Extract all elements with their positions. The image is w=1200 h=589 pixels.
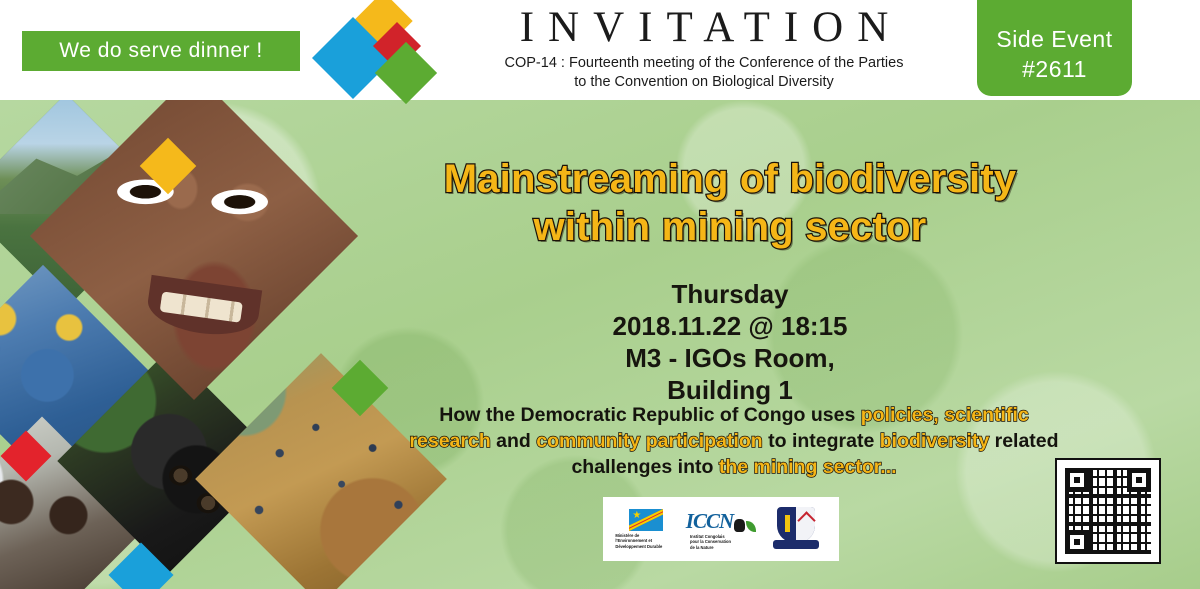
event-title: Mainstreaming of biodiversity within min…: [390, 155, 1070, 251]
event-description: How the Democratic Republic of Congo use…: [404, 402, 1064, 480]
drc-flag-icon: ★: [629, 509, 663, 531]
qr-code-pattern: [1065, 468, 1151, 554]
torch-icon: [785, 515, 790, 532]
event-room: M3 - IGOs Room,: [400, 342, 1060, 374]
dinner-banner: We do serve dinner !: [22, 31, 300, 71]
side-event-number: #2611: [1022, 54, 1087, 84]
ministry-environment-drc-logo: ★ Ministère de l'Environnement et Dévelo…: [609, 509, 683, 549]
ribbon-banner: [773, 540, 819, 549]
partner-logos: ★ Ministère de l'Environnement et Dévelo…: [603, 497, 839, 561]
iccn-logo: ICCN Institut Congolais pour la Conserva…: [684, 508, 758, 550]
desc-highlight-policies: policies,: [861, 404, 939, 426]
event-datetime: 2018.11.22 @ 18:15: [400, 310, 1060, 342]
page-title: INVITATION: [448, 3, 960, 53]
event-title-line-1: Mainstreaming of biodiversity: [390, 155, 1070, 203]
cop-subtitle-line-2: to the Convention on Biological Diversit…: [448, 73, 960, 92]
event-title-line-2: within mining sector: [390, 203, 1070, 251]
qr-finder-top-right: [1127, 468, 1151, 492]
cop-subtitle-line-1: COP-14 : Fourteenth meeting of the Confe…: [448, 54, 960, 73]
event-day: Thursday: [400, 278, 1060, 310]
shield-crest-icon: [773, 507, 819, 551]
iccn-logo-caption: Institut Congolais pour la Conservation …: [684, 534, 758, 550]
event-content: Mainstreaming of biodiversity within min…: [390, 100, 1200, 589]
okapi-icon: [734, 519, 745, 532]
event-details: Thursday 2018.11.22 @ 18:15 M3 - IGOs Ro…: [400, 278, 1060, 406]
mining-institute-crest-logo: [759, 507, 833, 551]
invitation-title-block: INVITATION COP-14 : Fourteenth meeting o…: [448, 3, 960, 92]
photo-collage: [0, 100, 400, 589]
invitation-poster: Mainstreaming of biodiversity within min…: [0, 0, 1200, 589]
side-event-badge: Side Event #2611: [977, 0, 1132, 96]
cop14-diamond-logo: [318, 2, 436, 98]
side-event-label: Side Event: [996, 24, 1112, 54]
desc-seg-3: and: [491, 430, 537, 452]
dinner-banner-label: We do serve dinner !: [59, 39, 262, 63]
desc-highlight-community-participation: community participation: [536, 430, 762, 452]
cop-subtitle: COP-14 : Fourteenth meeting of the Confe…: [448, 54, 960, 92]
ministry-logo-caption: Ministère de l'Environnement et Développ…: [609, 533, 683, 549]
qr-finder-bottom-left: [1065, 530, 1089, 554]
desc-seg-1: How the Democratic Republic of Congo use…: [439, 404, 860, 426]
iccn-wordmark: ICCN: [686, 511, 733, 532]
qr-finder-top-left: [1065, 468, 1089, 492]
okapi-leaf-icon: ICCN: [686, 508, 756, 532]
desc-highlight-biodiversity: biodiversity: [880, 430, 989, 452]
leaf-icon: [746, 521, 756, 532]
poster-body: Mainstreaming of biodiversity within min…: [0, 100, 1200, 589]
desc-seg-4: to integrate: [763, 430, 880, 452]
desc-highlight-mining-sector: the mining sector...: [719, 456, 897, 478]
qr-code[interactable]: [1055, 458, 1161, 564]
